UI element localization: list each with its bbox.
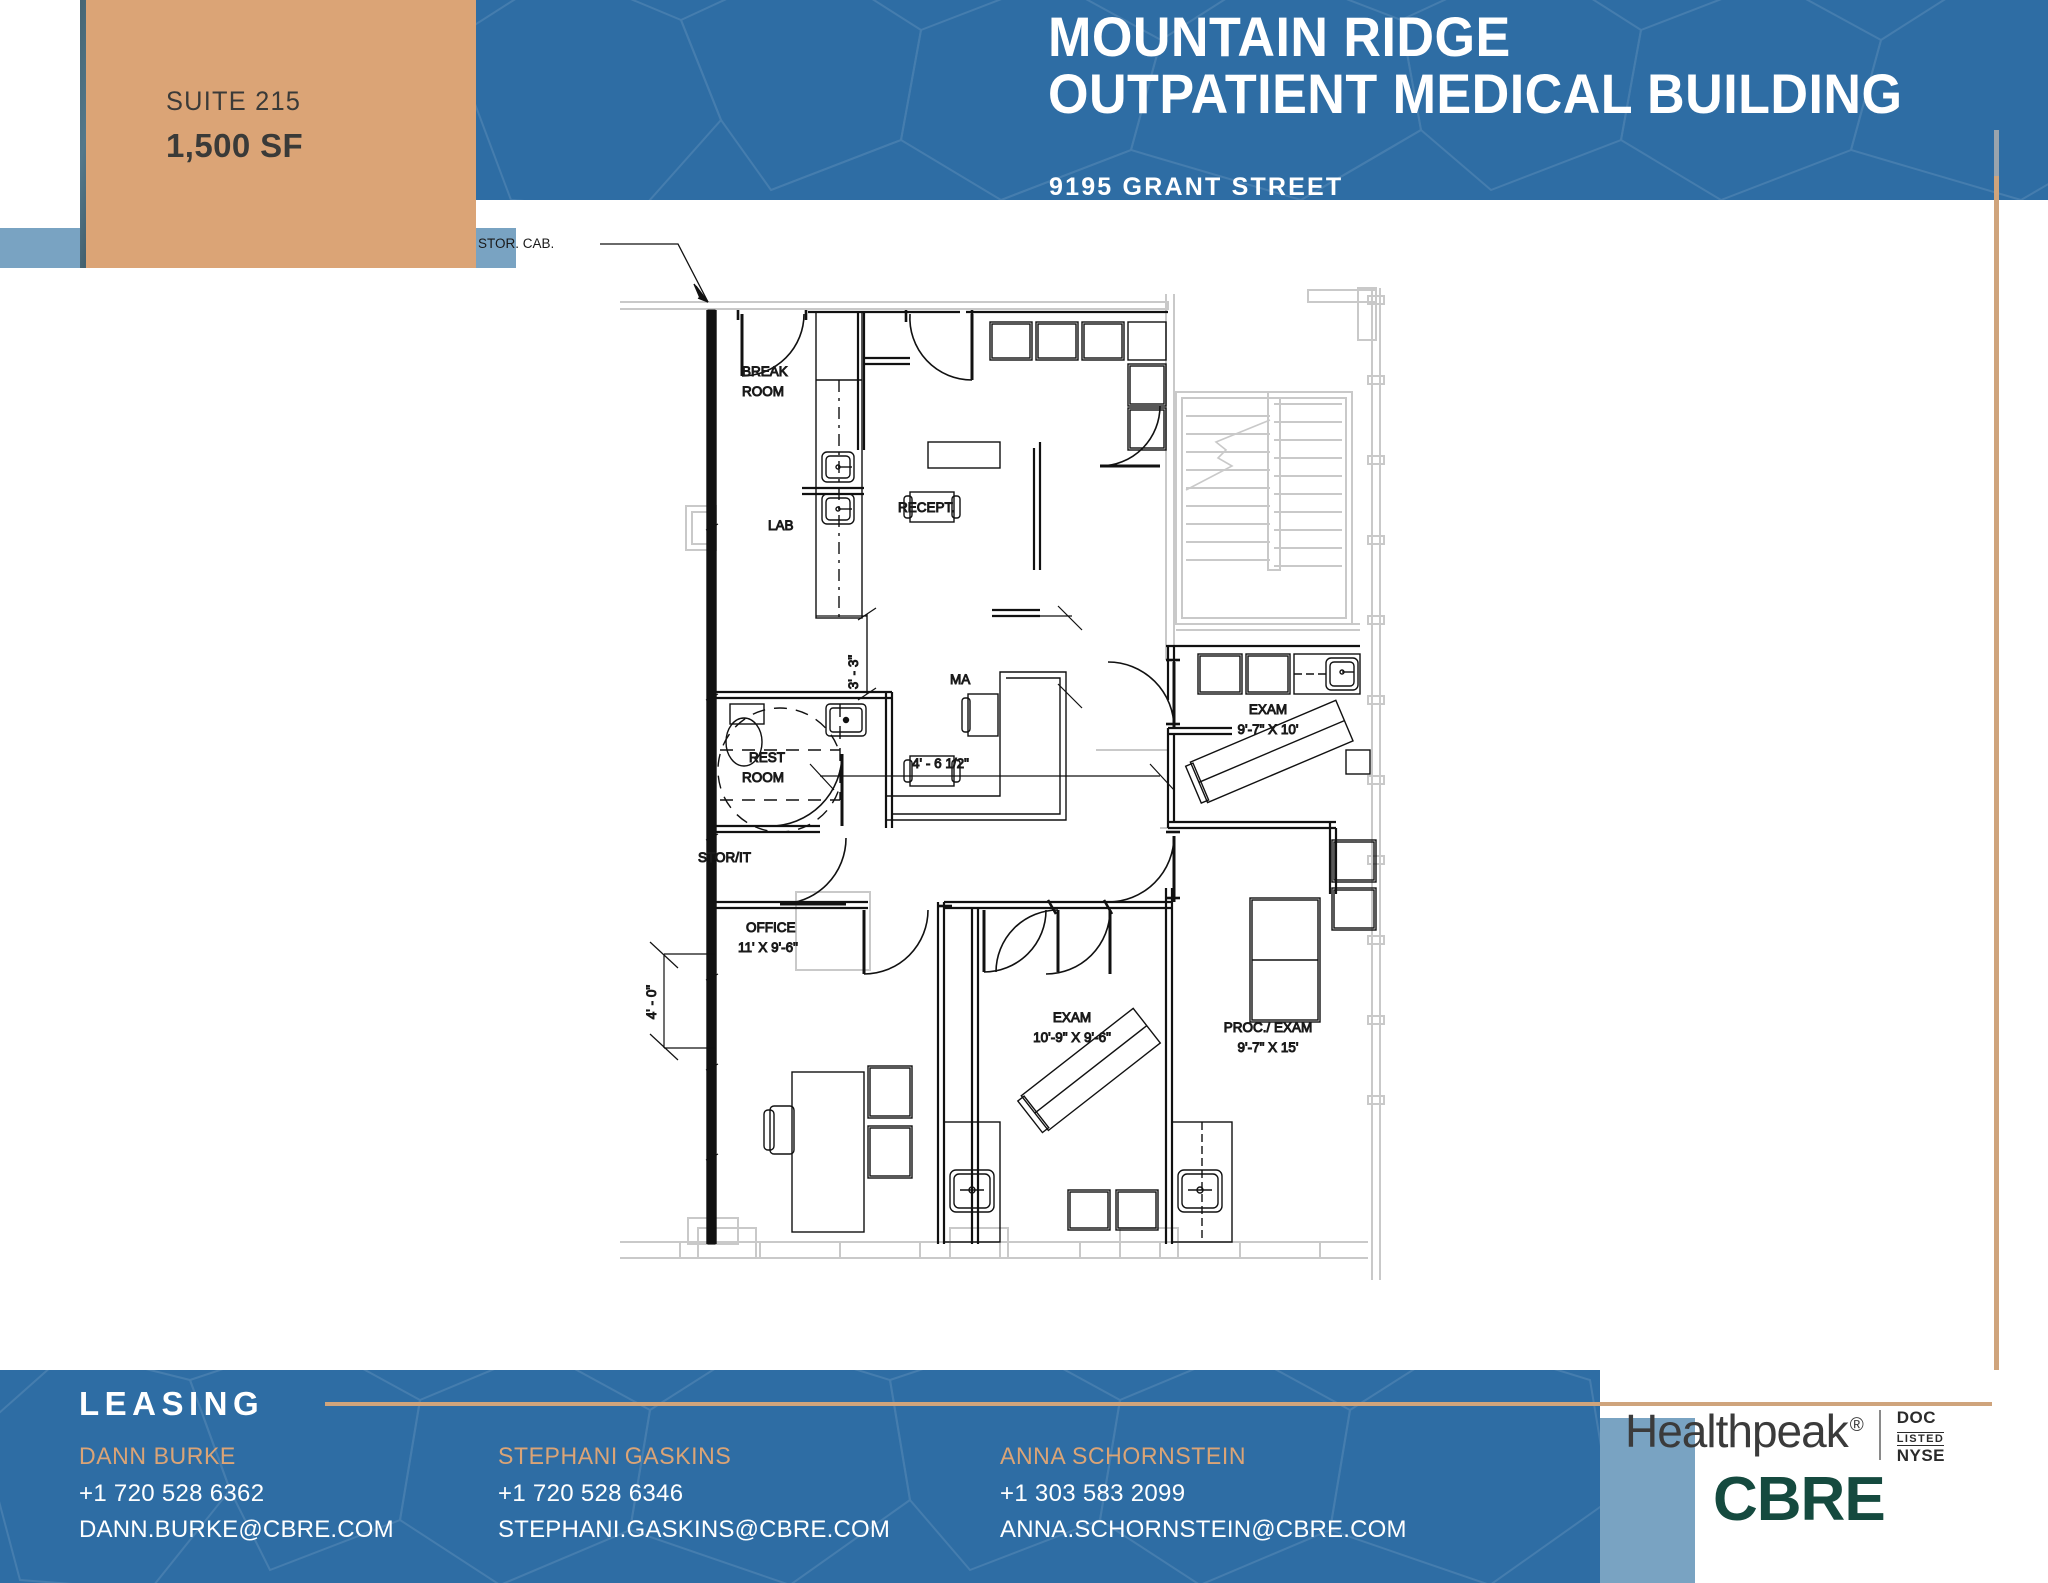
title-line-2: OUTPATIENT MEDICAL BUILDING <box>1048 65 2048 122</box>
label-exam-lower-dims: 10'-9" X 9'-6" <box>1033 1030 1111 1045</box>
label-exam-upper: EXAM <box>1249 702 1287 717</box>
dim-3-3-text: 3' - 3" <box>846 655 861 690</box>
label-rest-room-line2: ROOM <box>742 770 784 785</box>
floor-plan: BREAK ROOM LAB RECEPT. REST ROOM MA STOR… <box>620 280 1420 1290</box>
label-break-room-line2: ROOM <box>742 384 784 399</box>
logo-group: Healthpeak® DOC LISTED NYSE CBRE <box>1625 1408 1945 1531</box>
registered-trademark-icon: ® <box>1850 1415 1863 1436</box>
label-exam-lower: EXAM <box>1053 1010 1091 1025</box>
label-break-room-line1: BREAK <box>742 364 788 379</box>
healthpeak-logo: Healthpeak® <box>1625 1408 1863 1454</box>
doors <box>742 314 1174 974</box>
ticker-exchange: NYSE <box>1897 1446 1945 1465</box>
address-line-1: 9195 GRANT STREET <box>1049 170 1390 200</box>
suite-number: SUITE 215 <box>166 86 301 117</box>
healthpeak-wordmark: Healthpeak <box>1625 1405 1848 1457</box>
contact-email-0[interactable]: DANN.BURKE@CBRE.COM <box>79 1516 394 1544</box>
ticker-listed-label: LISTED <box>1897 1432 1945 1446</box>
floor-plan-drawing: BREAK ROOM LAB RECEPT. REST ROOM MA STOR… <box>620 280 1420 1290</box>
contact-name-2: ANNA SCHORNSTEIN <box>1000 1443 1390 1471</box>
contact-name-0: DANN BURKE <box>79 1443 381 1471</box>
contact-phone-2[interactable]: +1 303 583 2099 <box>1000 1480 1407 1508</box>
stock-ticker-badge: DOC LISTED NYSE <box>1897 1408 1945 1465</box>
accent-band-left <box>0 228 80 268</box>
contact-email-2[interactable]: ANNA.SCHORNSTEIN@CBRE.COM <box>1000 1516 1407 1544</box>
label-proc-exam-dims: 9'-7" X 15' <box>1238 1040 1299 1055</box>
page-title: MOUNTAIN RIDGE OUTPATIENT MEDICAL BUILDI… <box>1048 8 2048 122</box>
cbre-logo: CBRE <box>1713 1469 1945 1531</box>
vertical-accent-rule <box>1994 176 1999 1439</box>
label-rest-room-line1: REST <box>749 750 785 765</box>
label-lab: LAB <box>768 518 794 533</box>
label-exam-upper-dims: 9'-7" X 10' <box>1238 722 1299 737</box>
dimension-labels: 3' - 3" 4' - 6 1/2" 4' - 0" <box>644 655 969 1020</box>
context-geometry <box>620 288 1384 1280</box>
contact-card-2: ANNA SCHORNSTEIN +1 303 583 2099 ANNA.SC… <box>1000 1443 1407 1544</box>
label-ma: MA <box>950 672 970 687</box>
room-labels: BREAK ROOM LAB RECEPT. REST ROOM MA STOR… <box>698 364 1312 1055</box>
ticker-symbol: DOC <box>1897 1408 1945 1427</box>
leasing-heading: LEASING <box>79 1385 264 1423</box>
address-block: 9195 GRANT STREET THORNTON, COLORADO <box>1049 170 1390 200</box>
brochure-page: MOUNTAIN RIDGE OUTPATIENT MEDICAL BUILDI… <box>0 0 2048 1583</box>
contact-phone-1[interactable]: +1 720 528 6346 <box>498 1480 890 1508</box>
contact-card-1: STEPHANI GASKINS +1 720 528 6346 STEPHAN… <box>498 1443 890 1544</box>
label-office-dims: 11' X 9'-6" <box>738 940 798 955</box>
casework <box>718 312 1376 1242</box>
contact-email-1[interactable]: STEPHANI.GASKINS@CBRE.COM <box>498 1516 890 1544</box>
suite-area: 1,500 SF <box>166 127 310 165</box>
dim-4-0-text: 4' - 0" <box>644 985 659 1020</box>
vertical-rule-cap <box>1994 130 1999 178</box>
title-line-1: MOUNTAIN RIDGE <box>1048 8 2048 65</box>
stor-cab-label: STOR. CAB. <box>478 236 554 251</box>
label-office: OFFICE <box>746 920 796 935</box>
contact-card-0: DANN BURKE +1 720 528 6362 DANN.BURKE@CB… <box>79 1443 394 1544</box>
label-proc-exam: PROC./ EXAM <box>1224 1020 1313 1035</box>
stor-cab-callout: STOR. CAB. <box>460 220 820 360</box>
dim-4-6-half-text: 4' - 6 1/2" <box>912 756 969 771</box>
contact-name-1: STEPHANI GASKINS <box>498 1443 874 1471</box>
header-banner: MOUNTAIN RIDGE OUTPATIENT MEDICAL BUILDI… <box>471 0 2048 200</box>
label-stor-it: STOR/IT <box>698 850 751 865</box>
logo-divider <box>1879 1410 1881 1460</box>
suite-info: SUITE 215 1,500 SF <box>166 86 310 165</box>
contact-phone-0[interactable]: +1 720 528 6362 <box>79 1480 394 1508</box>
label-recept: RECEPT. <box>898 500 955 515</box>
